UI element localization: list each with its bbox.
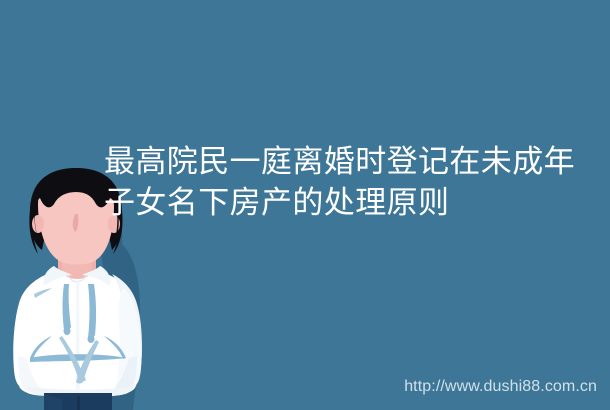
pants [44, 393, 112, 410]
article-title: 最高院民一庭离婚时登记在未成年 子女名下房产的处理原则 [104, 141, 596, 223]
article-cover-image: 最高院民一庭离婚时登记在未成年 子女名下房产的处理原则 http://www.d… [0, 0, 610, 410]
hoodie [13, 266, 142, 396]
title-line-2: 子女名下房产的处理原则 [104, 182, 596, 223]
title-line-1: 最高院民一庭离婚时登记在未成年 [104, 141, 596, 182]
site-url-watermark: http://www.dushi88.com.cn [404, 378, 597, 396]
